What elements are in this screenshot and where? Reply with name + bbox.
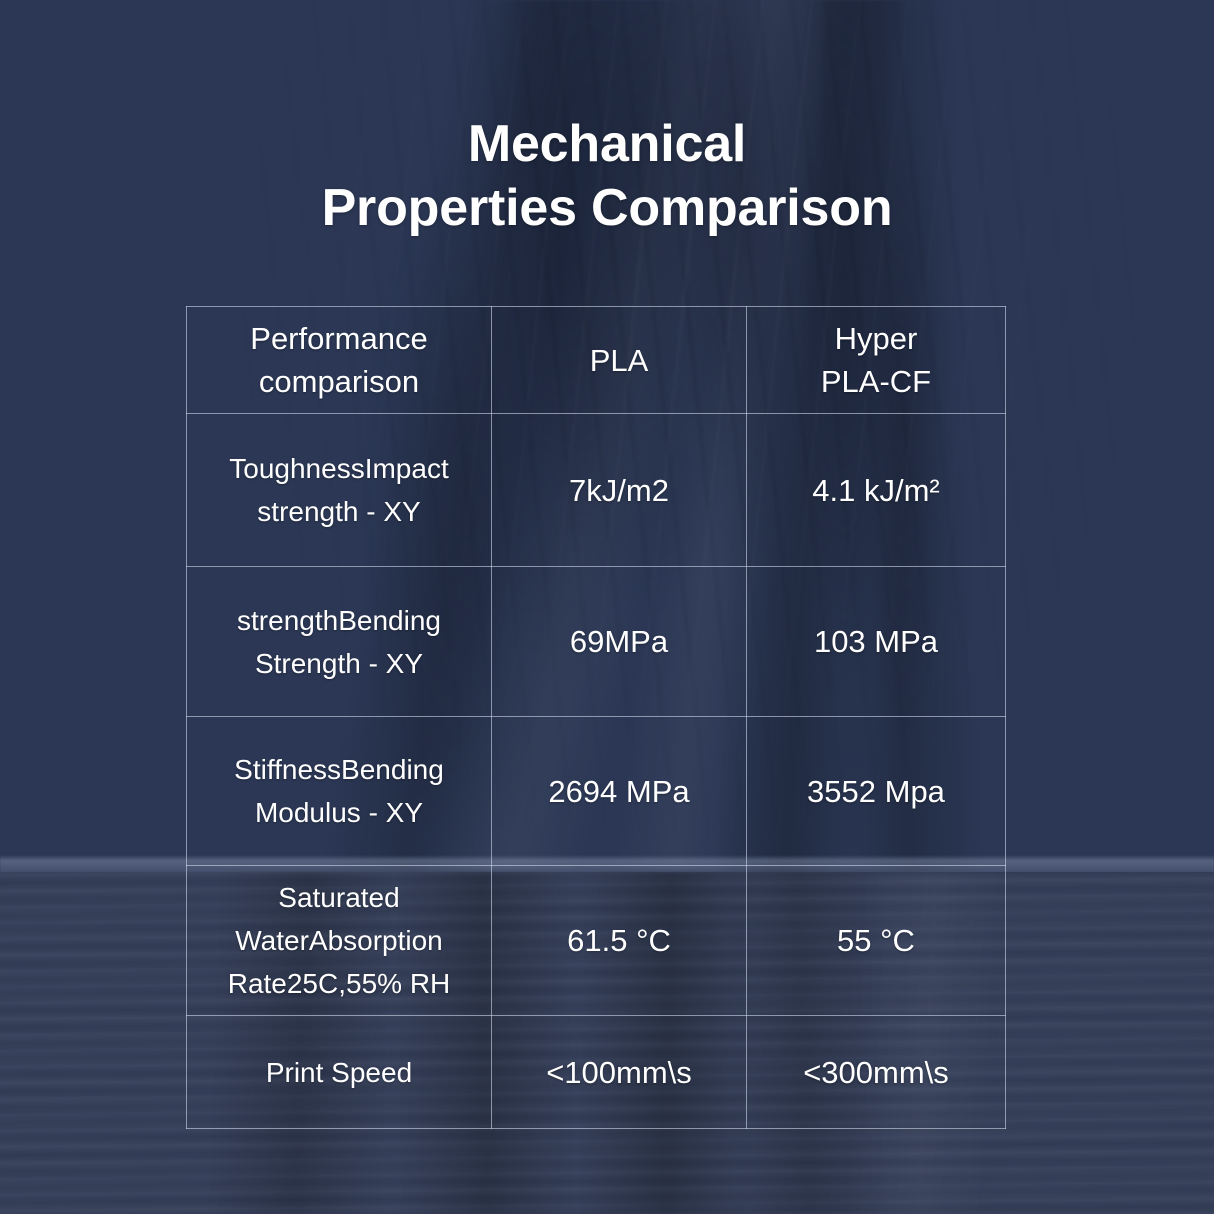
row-1-property-line-2: Strength - XY bbox=[201, 642, 477, 685]
row-4-value-pla: <100mm\s bbox=[492, 1016, 747, 1129]
table-header-cell-pla: PLA bbox=[492, 307, 747, 414]
page-title-line-1: Mechanical bbox=[0, 112, 1214, 176]
row-property-bending-strength: strengthBending Strength - XY bbox=[187, 567, 492, 717]
row-property-print-speed: Print Speed bbox=[187, 1016, 492, 1129]
row-0-value-hyper-pla-cf: 4.1 kJ/m² bbox=[747, 414, 1006, 567]
table-header-property-line-2: comparison bbox=[201, 360, 477, 403]
poster-page: Mechanical Properties Comparison Perform… bbox=[0, 0, 1214, 1214]
row-0-property-line-2: strength - XY bbox=[201, 490, 477, 533]
table-header-pla-line-1: PLA bbox=[506, 339, 732, 382]
table-row: StiffnessBending Modulus - XY 2694 MPa 3… bbox=[187, 717, 1006, 866]
row-4-value-hyper-pla-cf: <300mm\s bbox=[747, 1016, 1006, 1129]
table-row: Print Speed <100mm\s <300mm\s bbox=[187, 1016, 1006, 1129]
row-property-bending-modulus: StiffnessBending Modulus - XY bbox=[187, 717, 492, 866]
table-header-cell-hyper-pla-cf: Hyper PLA-CF bbox=[747, 307, 1006, 414]
row-0-value-pla: 7kJ/m2 bbox=[492, 414, 747, 567]
row-2-property-line-1: StiffnessBending bbox=[201, 748, 477, 791]
table-header-property-line-1: Performance bbox=[201, 317, 477, 360]
row-2-property-line-2: Modulus - XY bbox=[201, 791, 477, 834]
table-header-hyper-line-2: PLA-CF bbox=[761, 360, 991, 403]
row-3-value-hyper-pla-cf: 55 °C bbox=[747, 866, 1006, 1016]
row-2-value-pla: 2694 MPa bbox=[492, 717, 747, 866]
table-header-cell-property: Performance comparison bbox=[187, 307, 492, 414]
row-1-value-hyper-pla-cf: 103 MPa bbox=[747, 567, 1006, 717]
row-4-property-line-1: Print Speed bbox=[201, 1051, 477, 1094]
table-row: Saturated WaterAbsorption Rate25C,55% RH… bbox=[187, 866, 1006, 1016]
row-3-property-line-3: Rate25C,55% RH bbox=[201, 962, 477, 1005]
table-header-row: Performance comparison PLA Hyper PLA-CF bbox=[187, 307, 1006, 414]
page-title-line-2: Properties Comparison bbox=[0, 176, 1214, 240]
row-1-value-pla: 69MPa bbox=[492, 567, 747, 717]
page-title: Mechanical Properties Comparison bbox=[0, 112, 1214, 240]
table-row: ToughnessImpact strength - XY 7kJ/m2 4.1… bbox=[187, 414, 1006, 567]
row-0-property-line-1: ToughnessImpact bbox=[201, 447, 477, 490]
row-property-toughness-impact-strength: ToughnessImpact strength - XY bbox=[187, 414, 492, 567]
table-row: strengthBending Strength - XY 69MPa 103 … bbox=[187, 567, 1006, 717]
row-2-value-hyper-pla-cf: 3552 Mpa bbox=[747, 717, 1006, 866]
mechanical-properties-table: Performance comparison PLA Hyper PLA-CF … bbox=[186, 306, 1006, 1129]
row-3-property-line-2: WaterAbsorption bbox=[201, 919, 477, 962]
row-property-saturated-water-absorption: Saturated WaterAbsorption Rate25C,55% RH bbox=[187, 866, 492, 1016]
table-header: Performance comparison PLA Hyper PLA-CF bbox=[187, 307, 1006, 414]
row-3-property-line-1: Saturated bbox=[201, 876, 477, 919]
table-header-hyper-line-1: Hyper bbox=[761, 317, 991, 360]
row-3-value-pla: 61.5 °C bbox=[492, 866, 747, 1016]
table-body: ToughnessImpact strength - XY 7kJ/m2 4.1… bbox=[187, 414, 1006, 1129]
row-1-property-line-1: strengthBending bbox=[201, 599, 477, 642]
